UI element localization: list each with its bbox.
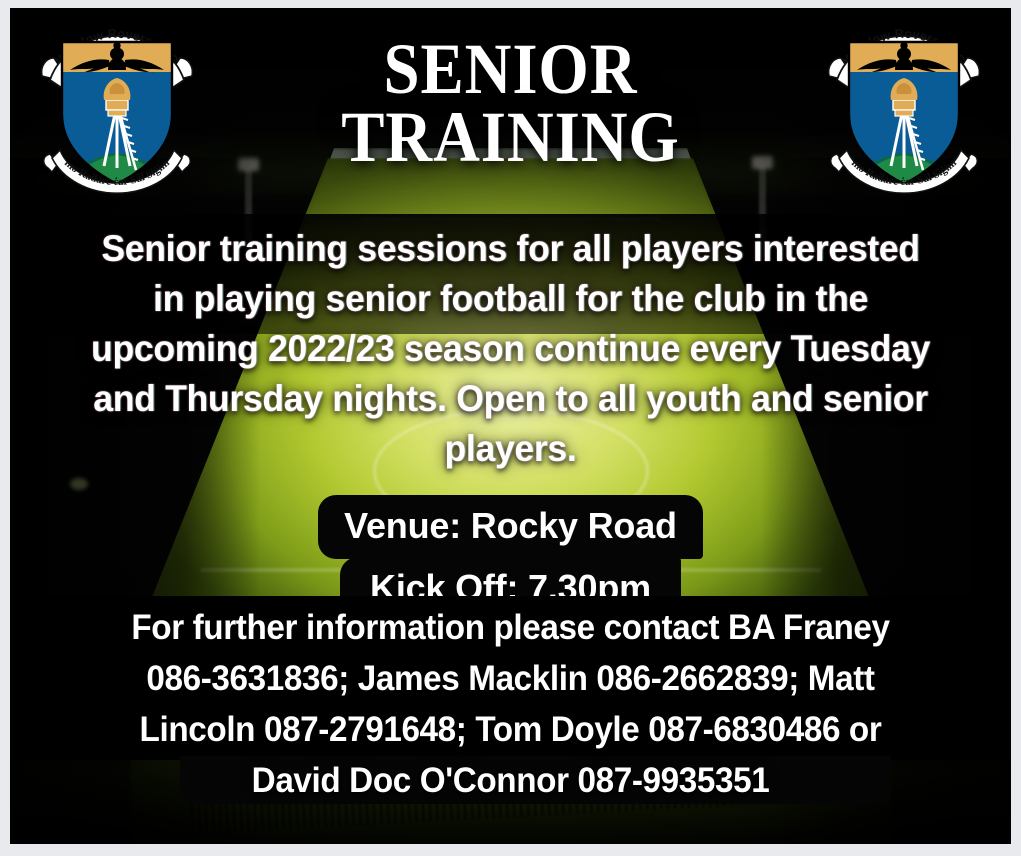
body-line-2: in playing senior football for the club … xyxy=(43,274,977,324)
title-line-1: SENIOR xyxy=(60,36,961,104)
contact-line-3: Lincoln 087-2791648; Tom Doyle 087-68304… xyxy=(46,704,974,755)
poster-title: SENIOR TRAINING xyxy=(60,36,961,171)
poster-frame: Wicklow Rovers AFC xyxy=(10,8,1011,844)
venue-badge: Venue: Rocky Road xyxy=(318,495,703,559)
body-line-4: and Thursday nights. Open to all youth a… xyxy=(43,374,977,424)
contact-line-1: For further information please contact B… xyxy=(46,602,974,653)
body-line-3: upcoming 2022/23 season continue every T… xyxy=(43,324,977,374)
poster-root: Wicklow Rovers AFC xyxy=(0,0,1021,856)
announcement-body: Senior training sessions for all players… xyxy=(10,224,1011,474)
contact-line-2: 086-3631836; James Macklin 086-2662839; … xyxy=(46,653,974,704)
contact-line-4: David Doc O'Connor 087-9935351 xyxy=(46,755,974,806)
contact-information: For further information please contact B… xyxy=(10,602,1011,806)
title-line-2: TRAINING xyxy=(60,104,961,172)
body-line-1: Senior training sessions for all players… xyxy=(43,224,977,274)
body-line-5: players. xyxy=(43,424,977,474)
